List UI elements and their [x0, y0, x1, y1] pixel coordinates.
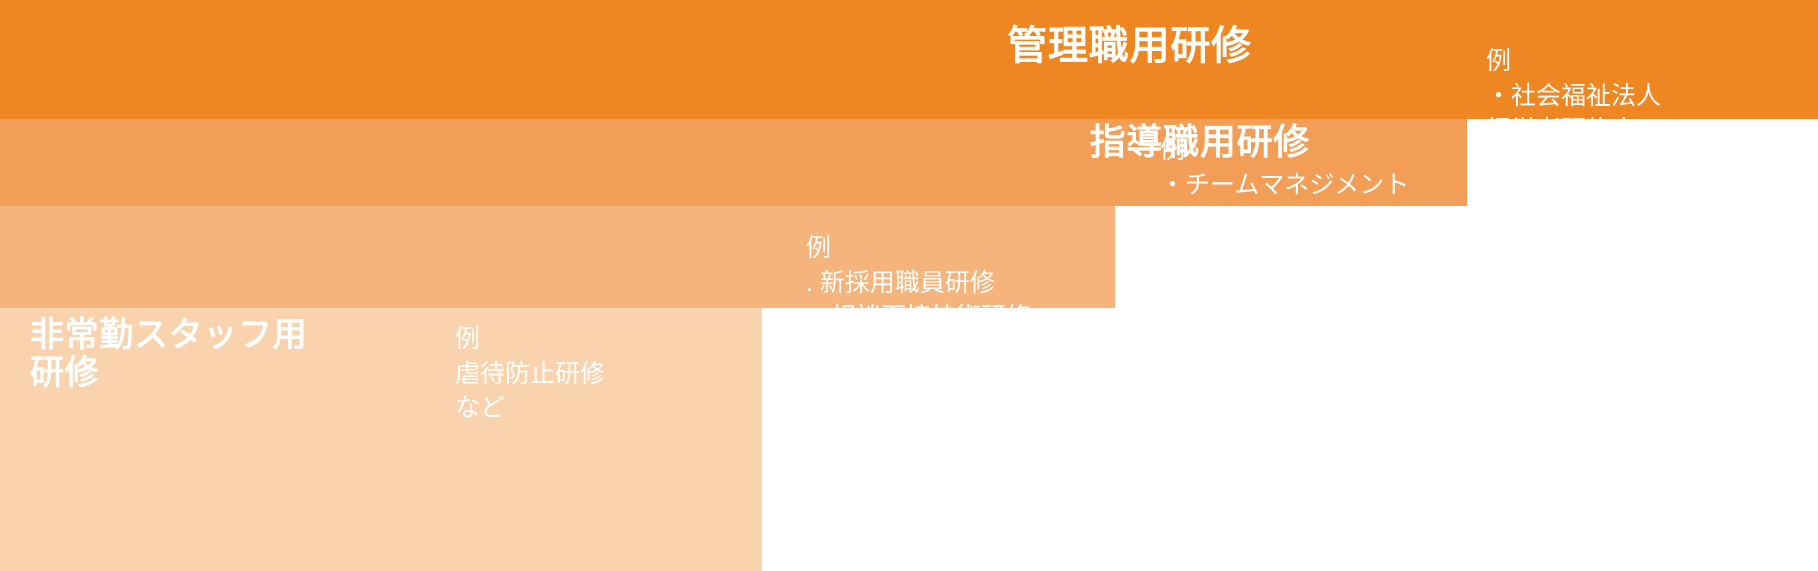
- tier-examples-supervisor: 例 ・チームマネジメント リーダー研修 ・人事・労務管理研修 など: [1160, 133, 1460, 306]
- training-hierarchy-diagram: 管理職用研修 例 ・社会福祉法人 経営者研修会 経営管理コース ・リスクマネージ…: [0, 0, 1818, 571]
- tier-examples-general-staff: 例 . 新採用職員研修 ・相談面接技術研修 など: [806, 231, 1106, 369]
- tier-title-general-staff: 一般職用研修: [1222, 232, 1430, 270]
- tier-examples-parttime-staff: 例 虐待防止研修 など: [455, 322, 745, 426]
- tier-examples-management: 例 ・社会福祉法人 経営者研修会 経営管理コース ・リスクマネージャー 養成講座…: [1486, 44, 1816, 286]
- tier-title-management: 管理職用研修: [1007, 24, 1252, 69]
- tier-title-parttime-staff: 非常勤スタッフ用 研修: [30, 316, 370, 392]
